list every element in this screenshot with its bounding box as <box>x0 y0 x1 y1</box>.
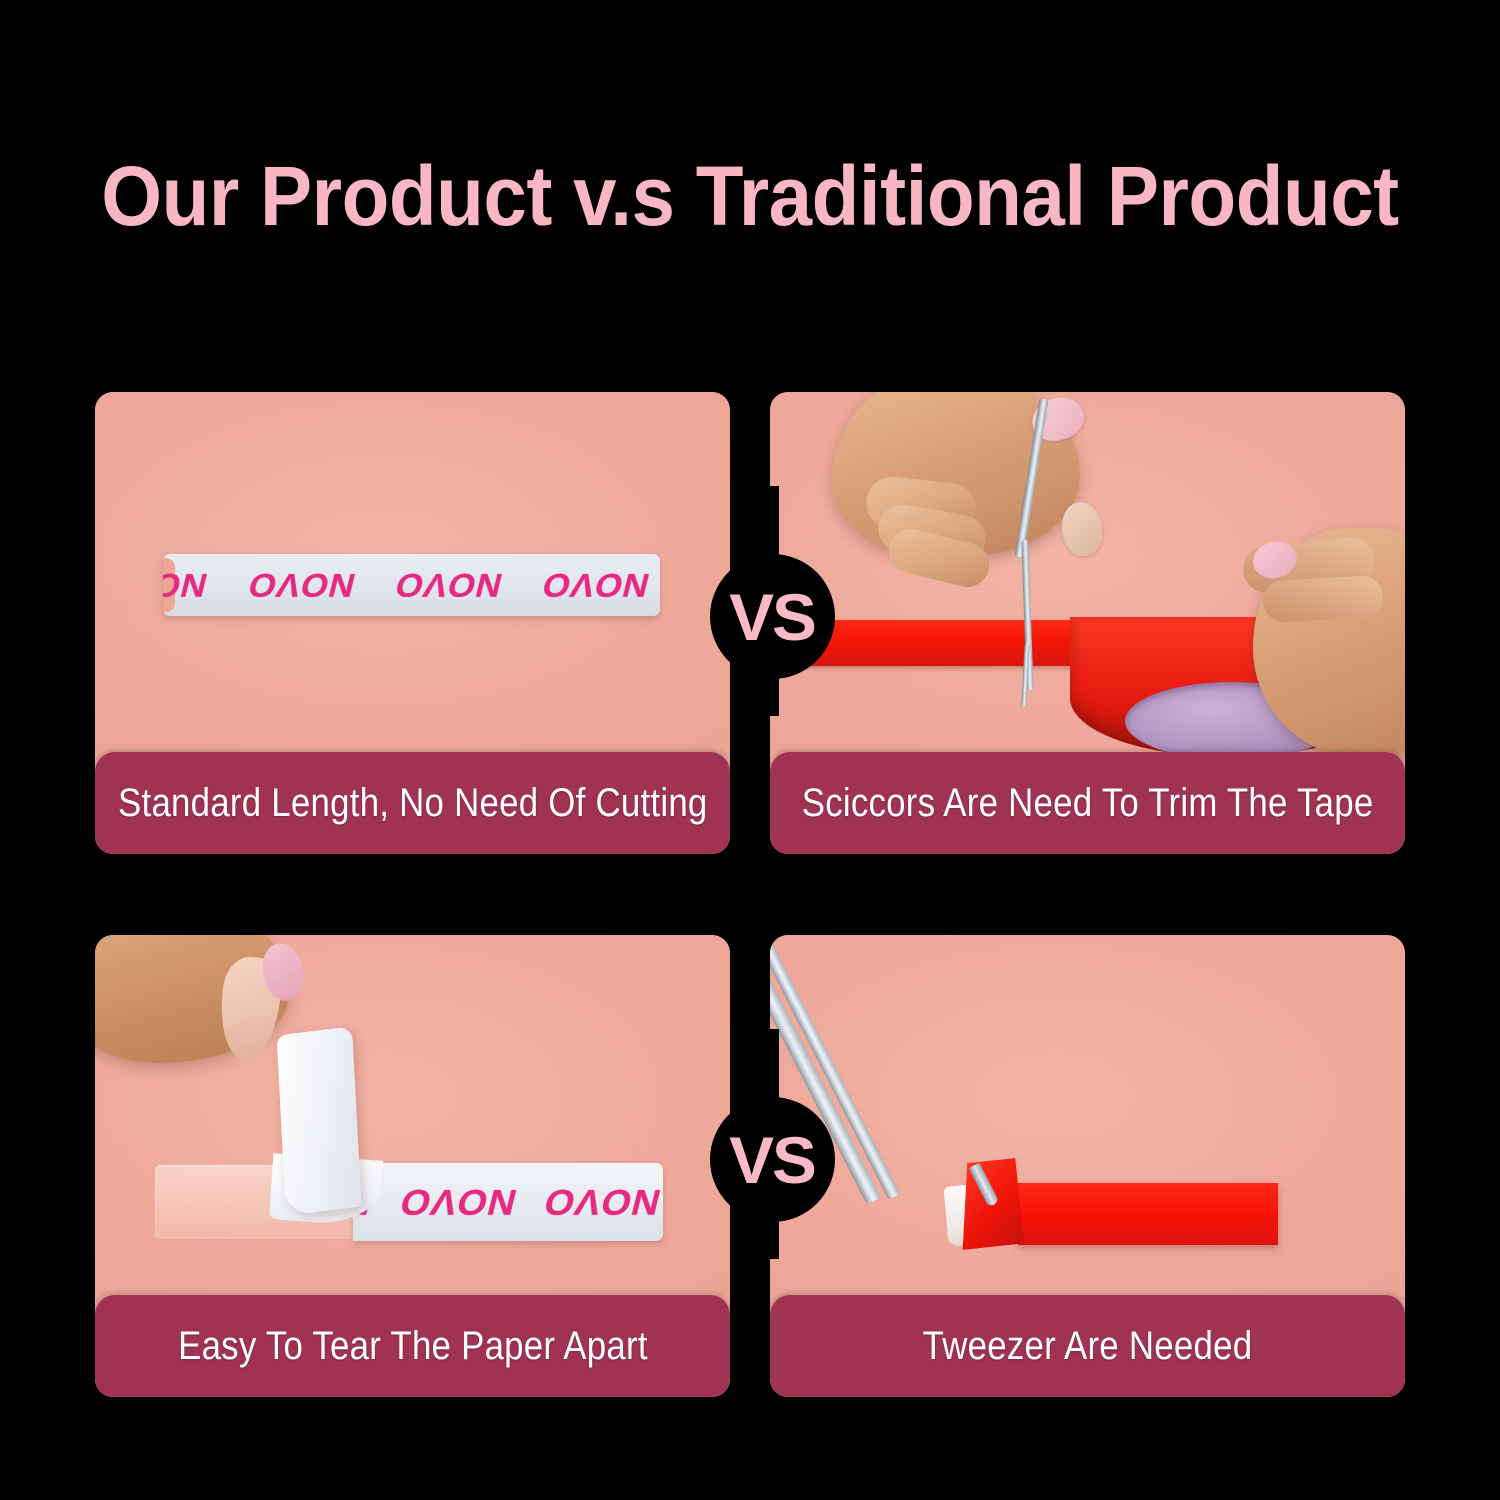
novo-print-row: NOVO NOVO NOVO <box>353 1163 663 1241</box>
comparison-grid: NOVO NOVO NOVO NOVO Standard Length, No … <box>95 392 1405 1397</box>
brand-text: NOVO <box>243 566 359 604</box>
caption-bar-top-left: Standard Length, No Need Of Cutting <box>95 752 730 854</box>
brand-text: NOVO <box>395 1181 521 1223</box>
panel-bottom-left[interactable]: NOVO NOVO NOVO Easy To Tear The Paper Ap… <box>95 935 730 1397</box>
vs-label: VS <box>729 1127 815 1193</box>
brand-text: NOVO <box>539 1181 663 1223</box>
vs-badge: VS <box>710 1097 835 1222</box>
brand-text: NOVO <box>163 566 212 604</box>
vs-divider-top: VS <box>702 554 842 679</box>
brand-text: NOVO <box>390 566 506 604</box>
caption-text: Standard Length, No Need Of Cutting <box>118 781 708 826</box>
caption-text: Easy To Tear The Paper Apart <box>178 1324 648 1369</box>
page-title: Our Product v.s Traditional Product <box>53 148 1448 244</box>
red-tape-strip <box>1018 1183 1278 1245</box>
caption-bar-bottom-left: Easy To Tear The Paper Apart <box>95 1295 730 1397</box>
vs-divider-bottom: VS <box>702 1097 842 1222</box>
novo-tape-strip: NOVO NOVO NOVO <box>353 1163 663 1241</box>
caption-text: Tweezer Are Needed <box>923 1324 1253 1369</box>
finger <box>1262 575 1384 623</box>
vs-label: VS <box>729 584 815 650</box>
panel-bottom-right[interactable]: Tweezer Are Needed <box>770 935 1405 1397</box>
brand-text: NOVO <box>538 566 654 604</box>
panel-top-right[interactable]: Sciccors Are Need To Trim The Tape <box>770 392 1405 854</box>
infographic-root: Our Product v.s Traditional Product NOVO… <box>0 0 1500 1500</box>
panel-top-left[interactable]: NOVO NOVO NOVO NOVO Standard Length, No … <box>95 392 730 854</box>
novo-print-row: NOVO NOVO NOVO NOVO <box>163 554 660 616</box>
novo-tape-strip: NOVO NOVO NOVO NOVO <box>163 554 660 616</box>
caption-text: Sciccors Are Need To Trim The Tape <box>802 781 1374 826</box>
caption-bar-top-right: Sciccors Are Need To Trim The Tape <box>770 752 1405 854</box>
vs-badge: VS <box>710 554 835 679</box>
peeled-backing-paper <box>277 1026 362 1215</box>
caption-bar-bottom-right: Tweezer Are Needed <box>770 1295 1405 1397</box>
